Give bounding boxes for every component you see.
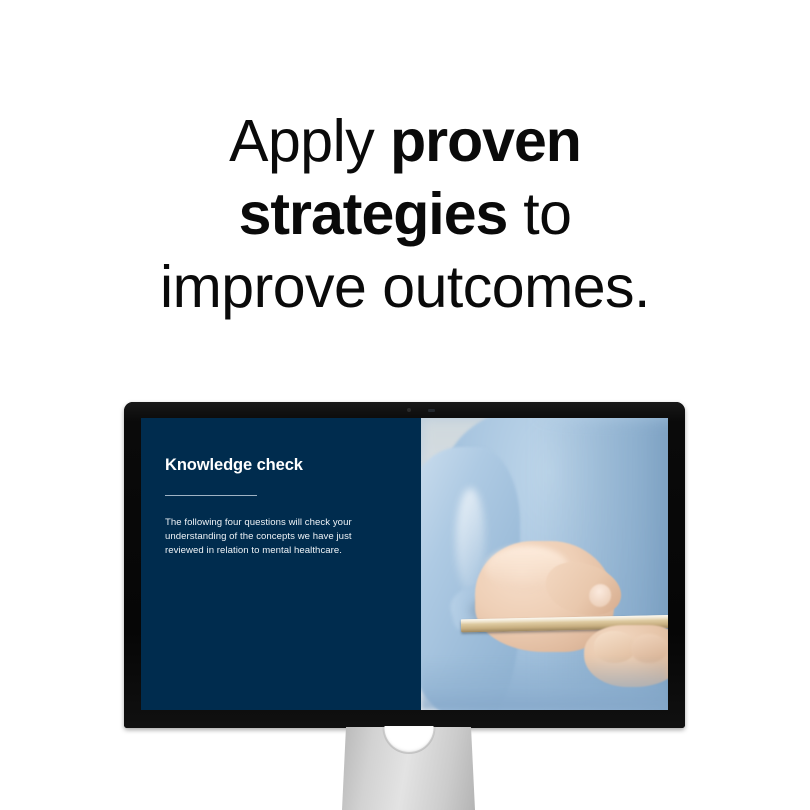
headline-line-3: improve outcomes. — [0, 251, 810, 324]
photo-bottom-shading — [421, 657, 668, 710]
slide-divider — [165, 495, 257, 497]
monitor-screen: Knowledge check The following four quest… — [141, 418, 668, 710]
headline-line-1: Apply proven — [0, 105, 810, 178]
slide-body-text: The following four questions will check … — [165, 516, 383, 558]
slide-text-panel: Knowledge check The following four quest… — [141, 418, 421, 710]
headline-line-2-plain: to — [507, 181, 571, 247]
monitor-stand — [342, 727, 475, 810]
headline-line-2: strategies to — [0, 178, 810, 251]
page-headline: Apply proven strategies to improve outco… — [0, 105, 810, 324]
headline-line-3-plain: improve outcomes. — [160, 254, 650, 320]
headline-line-1-plain: Apply — [229, 108, 390, 174]
headline-line-2-bold: strategies — [239, 181, 508, 247]
desktop-monitor: Knowledge check The following four quest… — [124, 402, 685, 728]
sensor-bar-icon — [428, 409, 435, 412]
slide-title: Knowledge check — [165, 456, 421, 475]
headline-line-1-bold: proven — [390, 108, 581, 174]
webcam-dot-icon — [407, 408, 411, 412]
slide-photo — [421, 418, 668, 710]
